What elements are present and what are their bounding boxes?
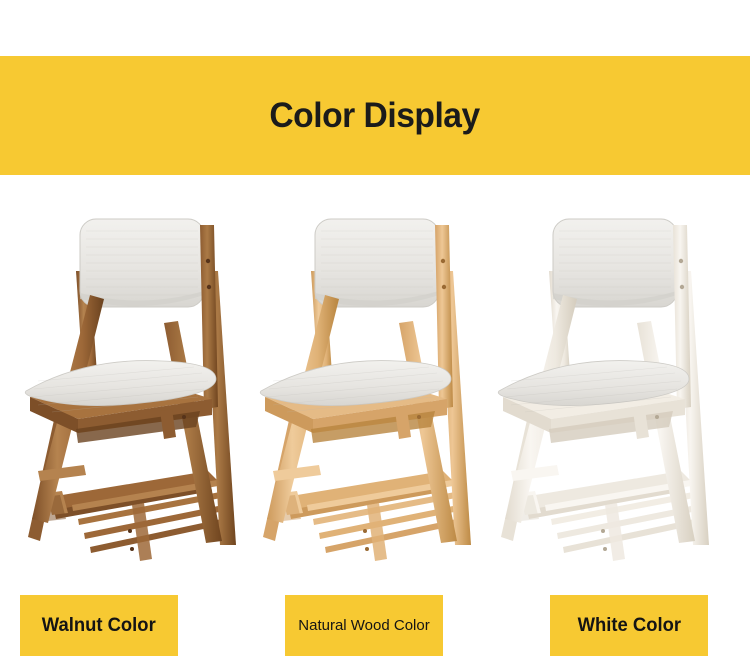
bolt-icon (207, 285, 211, 289)
backrest-cushion (553, 219, 677, 307)
bolt-icon (441, 259, 445, 263)
bolt-icon (128, 529, 132, 533)
backrest-cushion (315, 219, 439, 307)
bolt-icon (603, 547, 607, 551)
color-label-walnut[interactable]: Walnut Color (20, 595, 178, 656)
color-label-white[interactable]: White Color (550, 595, 708, 656)
bolt-icon (680, 285, 684, 289)
product-image-natural-wood[interactable] (247, 175, 497, 575)
color-label-natural-wood[interactable]: Natural Wood Color (285, 595, 443, 656)
color-label-text: Walnut Color (42, 616, 156, 635)
bolt-icon (182, 415, 186, 419)
bolt-icon (130, 547, 134, 551)
top-spacer (0, 0, 750, 56)
bolt-icon (363, 529, 367, 533)
bolt-icon (601, 529, 605, 533)
bolt-icon (365, 547, 369, 551)
page-title: Color Display (270, 96, 480, 136)
bolt-icon (442, 285, 446, 289)
bolt-icon (417, 415, 421, 419)
section-header-banner: Color Display (0, 56, 750, 175)
bolt-icon (679, 259, 683, 263)
bolt-icon (655, 415, 659, 419)
bolt-icon (206, 259, 210, 263)
backrest-cushion (80, 219, 204, 307)
chair-gallery (0, 175, 750, 575)
product-color-display-page: Color Display (0, 0, 750, 672)
folding-chair-icon (247, 175, 497, 575)
product-image-white[interactable] (485, 175, 735, 575)
folding-chair-icon (485, 175, 735, 575)
product-image-walnut[interactable] (12, 175, 262, 575)
color-label-row: Walnut Color Natural Wood Color White Co… (0, 595, 750, 657)
folding-chair-icon (12, 175, 262, 575)
color-label-text: White Color (577, 616, 680, 635)
color-label-text: Natural Wood Color (298, 618, 429, 633)
